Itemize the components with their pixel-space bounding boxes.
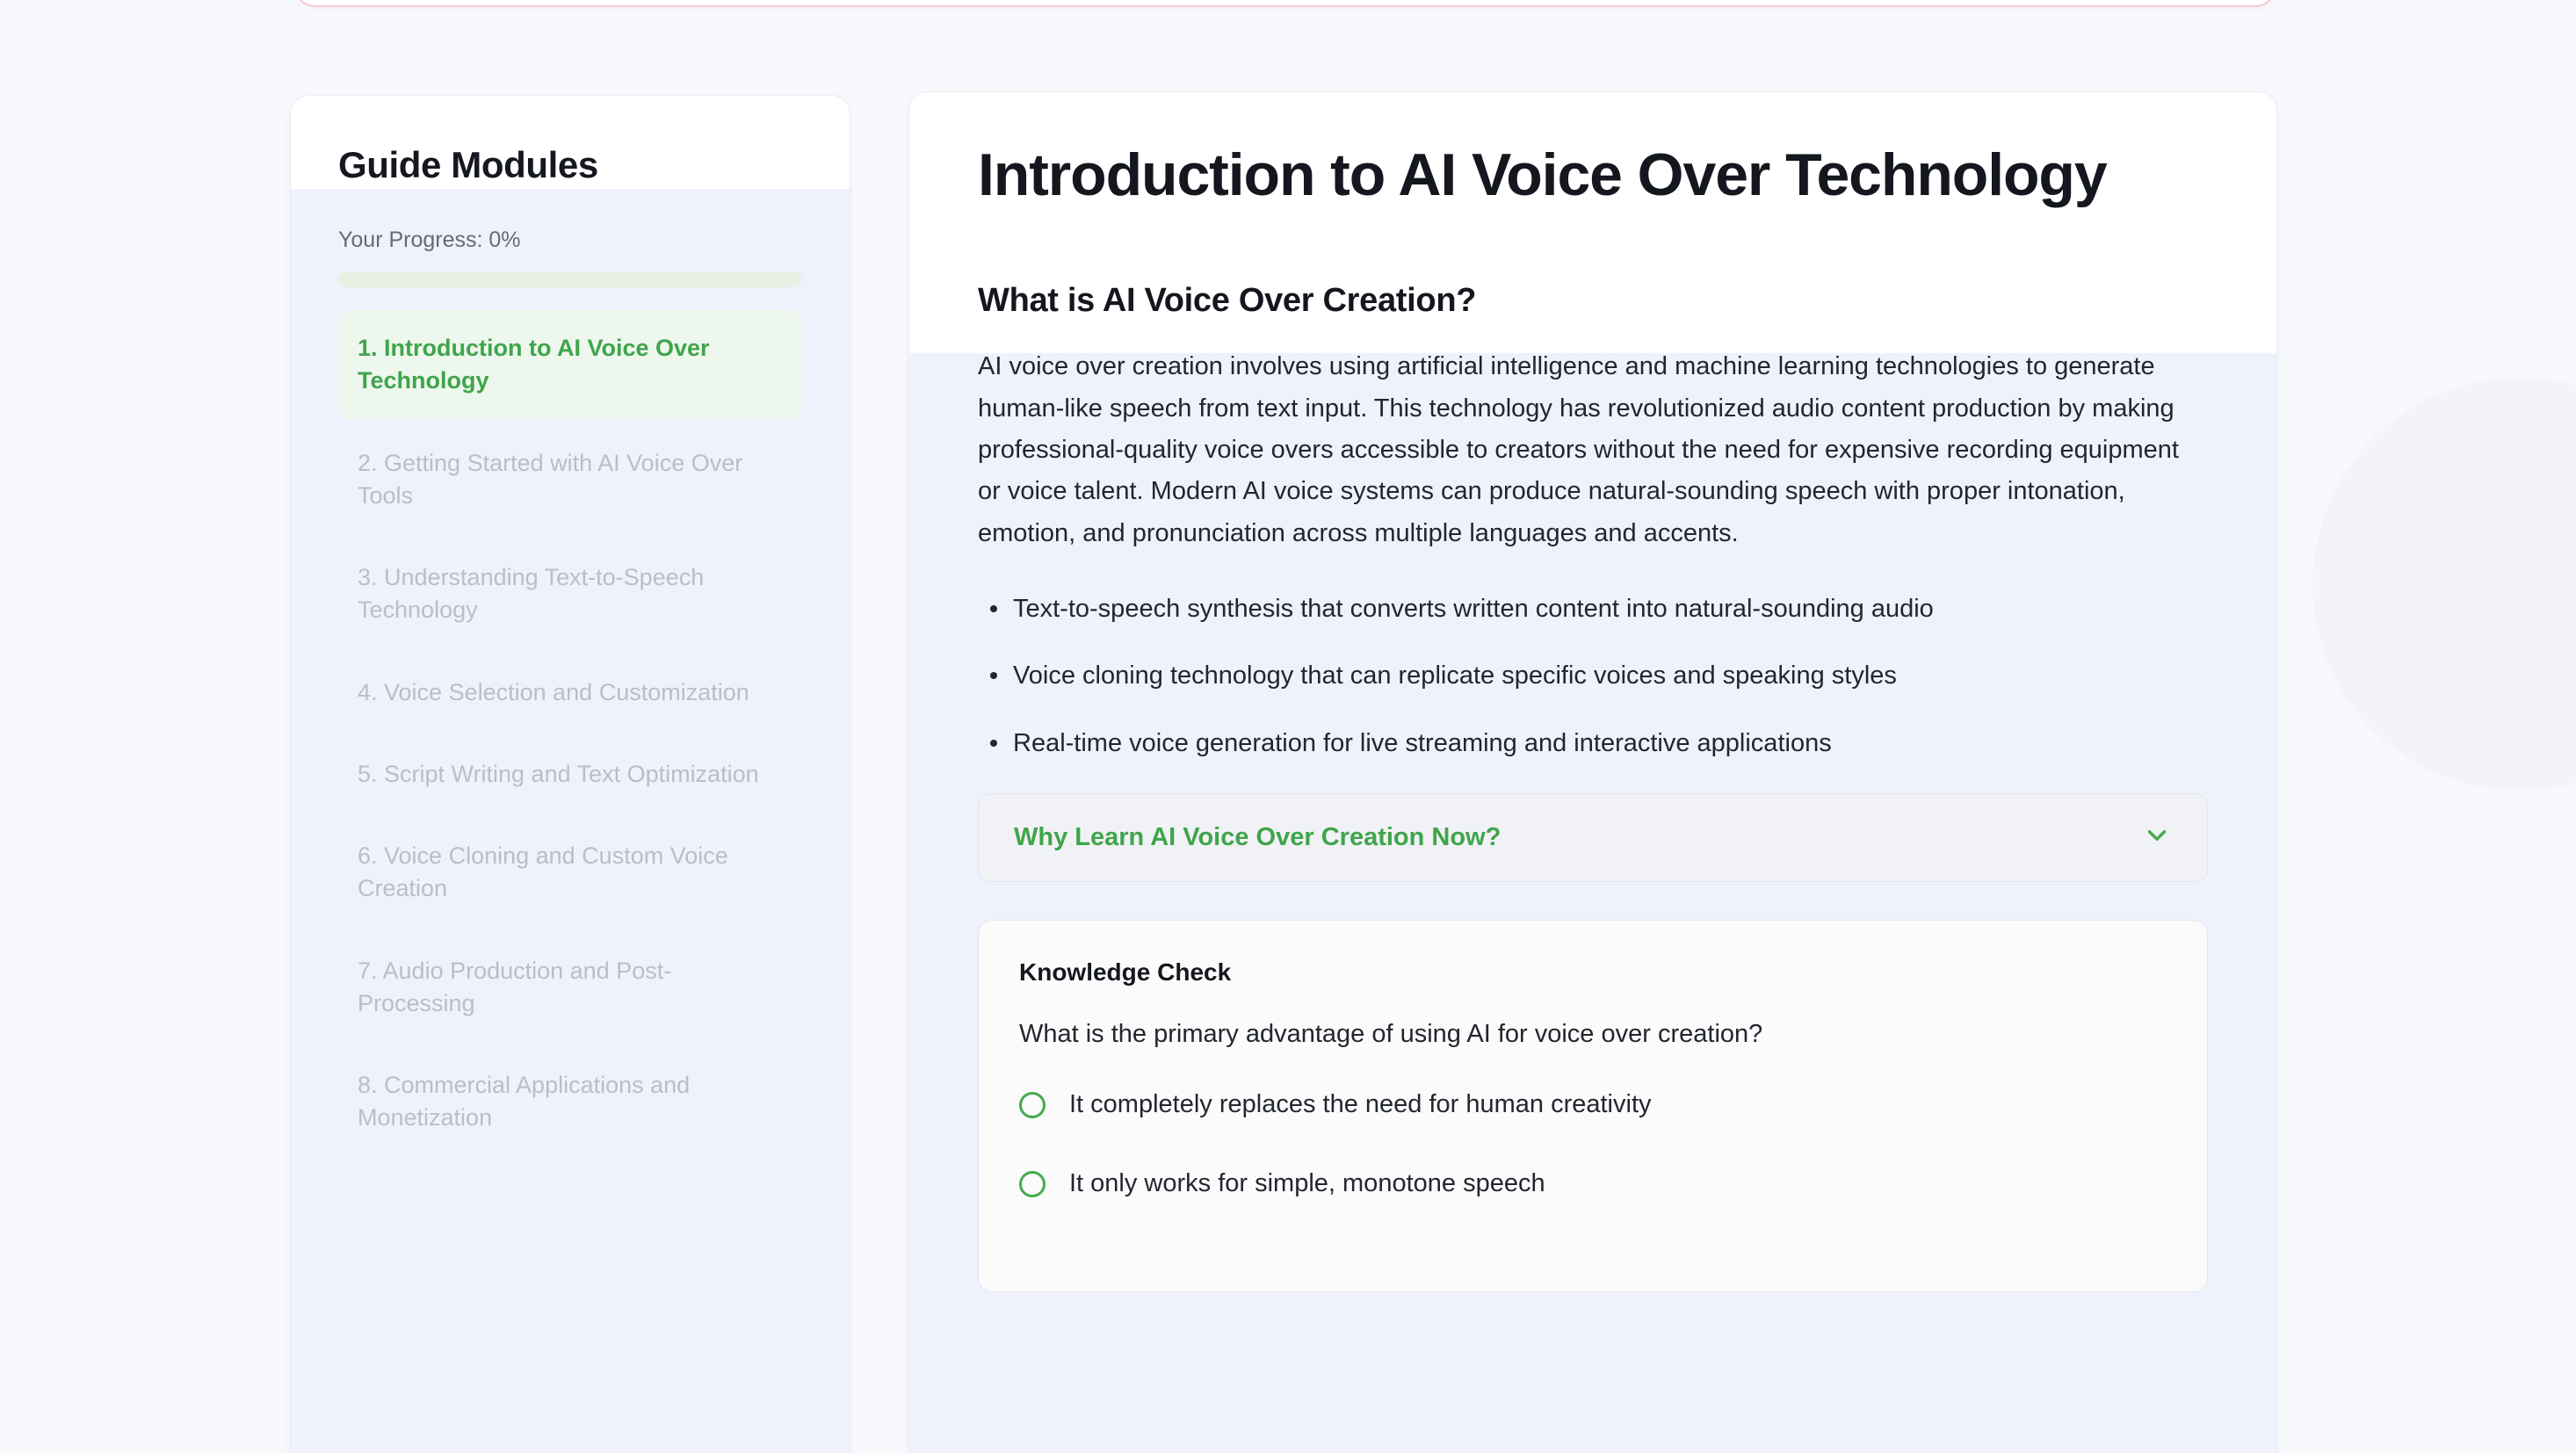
feature-bullet-list: Text-to-speech synthesis that converts w…	[978, 591, 2208, 762]
guide-modules-sidebar: Guide Modules Your Progress: 0% 1. Intro…	[290, 95, 850, 1453]
progress-bar	[338, 272, 802, 287]
radio-button-icon[interactable]	[1019, 1171, 1046, 1197]
sidebar-module-item[interactable]: 3. Understanding Text-to-Speech Technolo…	[338, 539, 802, 649]
sidebar-module-item[interactable]: 7. Audio Production and Post-Processing	[338, 933, 802, 1043]
body-paragraph: AI voice over creation involves using ar…	[978, 346, 2208, 553]
sidebar-module-item[interactable]: 4. Voice Selection and Customization	[338, 654, 802, 731]
accordion-title: Why Learn AI Voice Over Creation Now?	[1014, 823, 1501, 852]
sidebar-title: Guide Modules	[338, 145, 802, 185]
section-heading: What is AI Voice Over Creation?	[978, 282, 2208, 320]
sidebar-module-item[interactable]: 8. Commercial Applications and Monetizat…	[338, 1047, 802, 1157]
page-root: Guide Modules Your Progress: 0% 1. Intro…	[0, 0, 2576, 1453]
sidebar-module-label: 3. Understanding Text-to-Speech Technolo…	[358, 564, 704, 623]
decorative-circle	[2312, 378, 2576, 791]
sidebar-module-label: 6. Voice Cloning and Custom Voice Creati…	[358, 842, 728, 901]
feature-bullet: Text-to-speech synthesis that converts w…	[1013, 591, 2208, 627]
module-list: 1. Introduction to AI Voice Over Technol…	[338, 310, 802, 1157]
top-notice-card	[295, 0, 2276, 7]
page-title: Introduction to AI Voice Over Technology	[978, 143, 2208, 207]
sidebar-module-label: 2. Getting Started with AI Voice Over To…	[358, 450, 742, 509]
lesson-content-card: Introduction to AI Voice Over Technology…	[908, 91, 2277, 1453]
progress-label: Your Progress: 0%	[338, 227, 802, 253]
sidebar-module-item[interactable]: 1. Introduction to AI Voice Over Technol…	[338, 310, 802, 420]
sidebar-module-label: 1. Introduction to AI Voice Over Technol…	[358, 335, 710, 394]
sidebar-module-label: 4. Voice Selection and Customization	[358, 679, 749, 705]
quiz-option-label: It completely replaces the need for huma…	[1069, 1088, 1652, 1122]
feature-bullet: Voice cloning technology that can replic…	[1013, 658, 2208, 694]
feature-bullet: Real-time voice generation for live stre…	[1013, 726, 2208, 762]
quiz-option-list: It completely replaces the need for huma…	[1019, 1088, 2167, 1201]
knowledge-check-card: Knowledge Check What is the primary adva…	[978, 920, 2208, 1293]
quiz-option[interactable]: It completely replaces the need for huma…	[1019, 1088, 2167, 1122]
sidebar-module-label: 7. Audio Production and Post-Processing	[358, 958, 671, 1016]
sidebar-module-item[interactable]: 5. Script Writing and Text Optimization	[338, 736, 802, 813]
sidebar-module-label: 5. Script Writing and Text Optimization	[358, 761, 759, 787]
quiz-option[interactable]: It only works for simple, monotone speec…	[1019, 1167, 2167, 1201]
quiz-option-label: It only works for simple, monotone speec…	[1069, 1167, 1545, 1201]
quiz-question: What is the primary advantage of using A…	[1019, 1017, 2167, 1052]
sidebar-module-label: 8. Commercial Applications and Monetizat…	[358, 1072, 690, 1131]
sidebar-module-item[interactable]: 2. Getting Started with AI Voice Over To…	[338, 425, 802, 535]
radio-button-icon[interactable]	[1019, 1092, 1046, 1118]
knowledge-check-heading: Knowledge Check	[1019, 958, 2167, 987]
accordion-why-learn[interactable]: Why Learn AI Voice Over Creation Now?	[978, 793, 2208, 882]
chevron-down-icon[interactable]	[2142, 820, 2172, 855]
sidebar-module-item[interactable]: 6. Voice Cloning and Custom Voice Creati…	[338, 818, 802, 928]
